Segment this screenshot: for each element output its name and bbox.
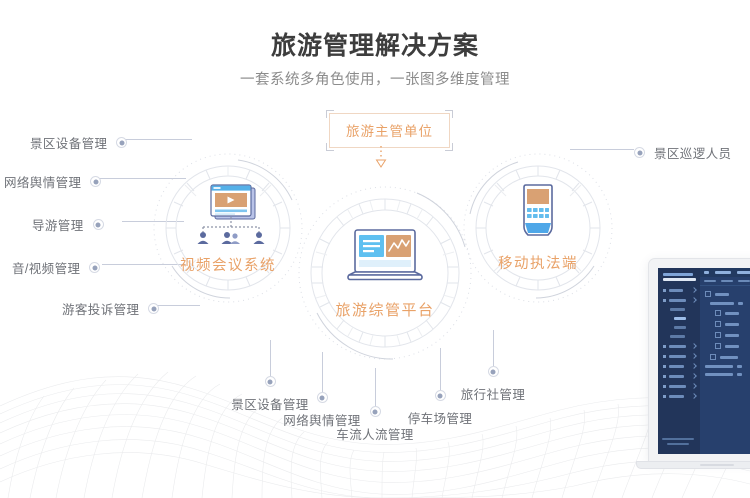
hub-video-conference-label: 视频会议系统 — [180, 254, 276, 275]
sidebar-submenu-item[interactable] — [670, 308, 696, 311]
solution-diagram-canvas: 旅游管理解决方案 一套系统多角色使用，一张图多维度管理 旅游主管单位 — [0, 0, 750, 498]
sidebar-menu-item[interactable] — [663, 364, 696, 368]
hub-mobile-enforcement[interactable]: 移动执法端 — [462, 152, 614, 304]
dashboard-filter-bar[interactable] — [700, 277, 750, 286]
node-dot-icon — [317, 392, 328, 403]
authority-badge-wrapper: 旅游主管单位 — [329, 113, 450, 148]
node-left-av-management[interactable]: 音/视频管理 — [12, 258, 100, 277]
node-label: 景区设备管理 — [30, 133, 107, 152]
badge-corner-top-left — [326, 110, 334, 118]
node-label: 网络舆情管理 — [4, 172, 81, 191]
node-dot-icon — [634, 147, 645, 158]
node-left-complaints[interactable]: 游客投诉管理 — [62, 299, 159, 318]
laptop-notch — [700, 464, 734, 466]
hub-video-conference[interactable]: 视频会议系统 — [152, 152, 304, 304]
tree-row[interactable] — [715, 321, 750, 327]
sidebar-menu-item[interactable] — [663, 374, 696, 378]
sidebar-menu-item[interactable] — [663, 354, 696, 358]
sidebar-menu-item[interactable] — [663, 288, 696, 292]
dashboard-tree-list[interactable] — [700, 286, 750, 376]
badge-corner-bottom-right — [445, 143, 453, 151]
hub-mobile-enforcement-label: 移动执法端 — [498, 252, 578, 273]
laptop-lid — [648, 258, 750, 462]
node-dot-icon — [93, 219, 104, 230]
tree-row[interactable] — [705, 373, 750, 376]
node-left-public-opinion[interactable]: 网络舆情管理 — [4, 172, 101, 191]
node-dot-icon — [370, 406, 381, 417]
node-left-scenic-equipment[interactable]: 景区设备管理 — [30, 133, 127, 152]
dashboard-sidebar[interactable] — [658, 268, 700, 454]
node-dot-icon — [265, 376, 276, 387]
tree-row[interactable] — [715, 332, 750, 338]
sidebar-menu-item[interactable] — [663, 298, 696, 302]
hub-tourism-platform-content: 旅游综管平台 — [297, 185, 473, 361]
hub-video-conference-content: 视频会议系统 — [152, 152, 304, 304]
node-label: 旅行社管理 — [461, 384, 526, 403]
node-label: 景区巡逻人员 — [654, 143, 731, 162]
tree-row[interactable] — [715, 310, 750, 316]
tree-row[interactable] — [705, 291, 750, 297]
sidebar-submenu-item[interactable] — [670, 335, 696, 338]
authority-badge-label: 旅游主管单位 — [346, 124, 433, 139]
sidebar-menu-item[interactable] — [663, 384, 696, 388]
tree-row[interactable] — [715, 343, 750, 349]
hub-tourism-platform-label: 旅游综管平台 — [335, 299, 434, 320]
node-label: 音/视频管理 — [12, 258, 80, 277]
handheld-terminal-icon — [514, 183, 562, 245]
downward-dotted-arrow-icon — [373, 146, 389, 170]
leader-line-bottom-5 — [493, 330, 494, 370]
sidebar-menu-item[interactable] — [663, 394, 696, 398]
node-dot-icon — [488, 366, 499, 377]
node-dot-icon — [116, 137, 127, 148]
sidebar-submenu-item-active[interactable] — [674, 317, 696, 320]
sidebar-submenu-item[interactable] — [674, 326, 696, 329]
dashboard-screenshot[interactable] — [658, 268, 750, 454]
sidebar-menu-item[interactable] — [663, 344, 696, 348]
node-label: 导游管理 — [32, 215, 84, 234]
node-dot-icon — [89, 262, 100, 273]
dashboard-content — [700, 268, 750, 454]
node-left-guide-management[interactable]: 导游管理 — [32, 215, 104, 234]
authority-badge[interactable]: 旅游主管单位 — [329, 113, 450, 148]
page-subtitle: 一套系统多角色使用，一张图多维度管理 — [0, 68, 750, 89]
laptop-dashboard-icon — [340, 227, 430, 289]
tree-row[interactable] — [710, 302, 750, 305]
node-label: 游客投诉管理 — [62, 299, 139, 318]
leader-line-left-1 — [120, 139, 192, 140]
tree-row[interactable] — [710, 354, 750, 360]
video-window-icon — [189, 181, 267, 247]
laptop-base — [636, 461, 750, 469]
node-dot-icon — [148, 303, 159, 314]
page-title: 旅游管理解决方案 — [0, 26, 750, 62]
dashboard-footer-text — [662, 438, 694, 448]
node-right-patrol-staff[interactable]: 景区巡逻人员 — [634, 143, 731, 162]
node-dot-icon — [90, 176, 101, 187]
dashboard-logo — [663, 273, 696, 281]
hub-mobile-enforcement-content: 移动执法端 — [462, 152, 614, 304]
leader-line-bottom-1 — [270, 340, 271, 380]
hub-tourism-platform[interactable]: 旅游综管平台 — [297, 185, 473, 361]
tree-row[interactable] — [705, 365, 750, 368]
dashboard-top-bar[interactable] — [700, 268, 750, 277]
leader-line-right-1 — [570, 149, 634, 150]
badge-corner-top-right — [445, 110, 453, 118]
node-bottom-travel-agency[interactable]: 旅行社管理 — [454, 366, 532, 403]
badge-corner-bottom-left — [326, 143, 334, 151]
node-label: 停车场管理 — [408, 408, 473, 427]
node-dot-icon — [435, 390, 446, 401]
leader-line-bottom-3 — [375, 368, 376, 410]
